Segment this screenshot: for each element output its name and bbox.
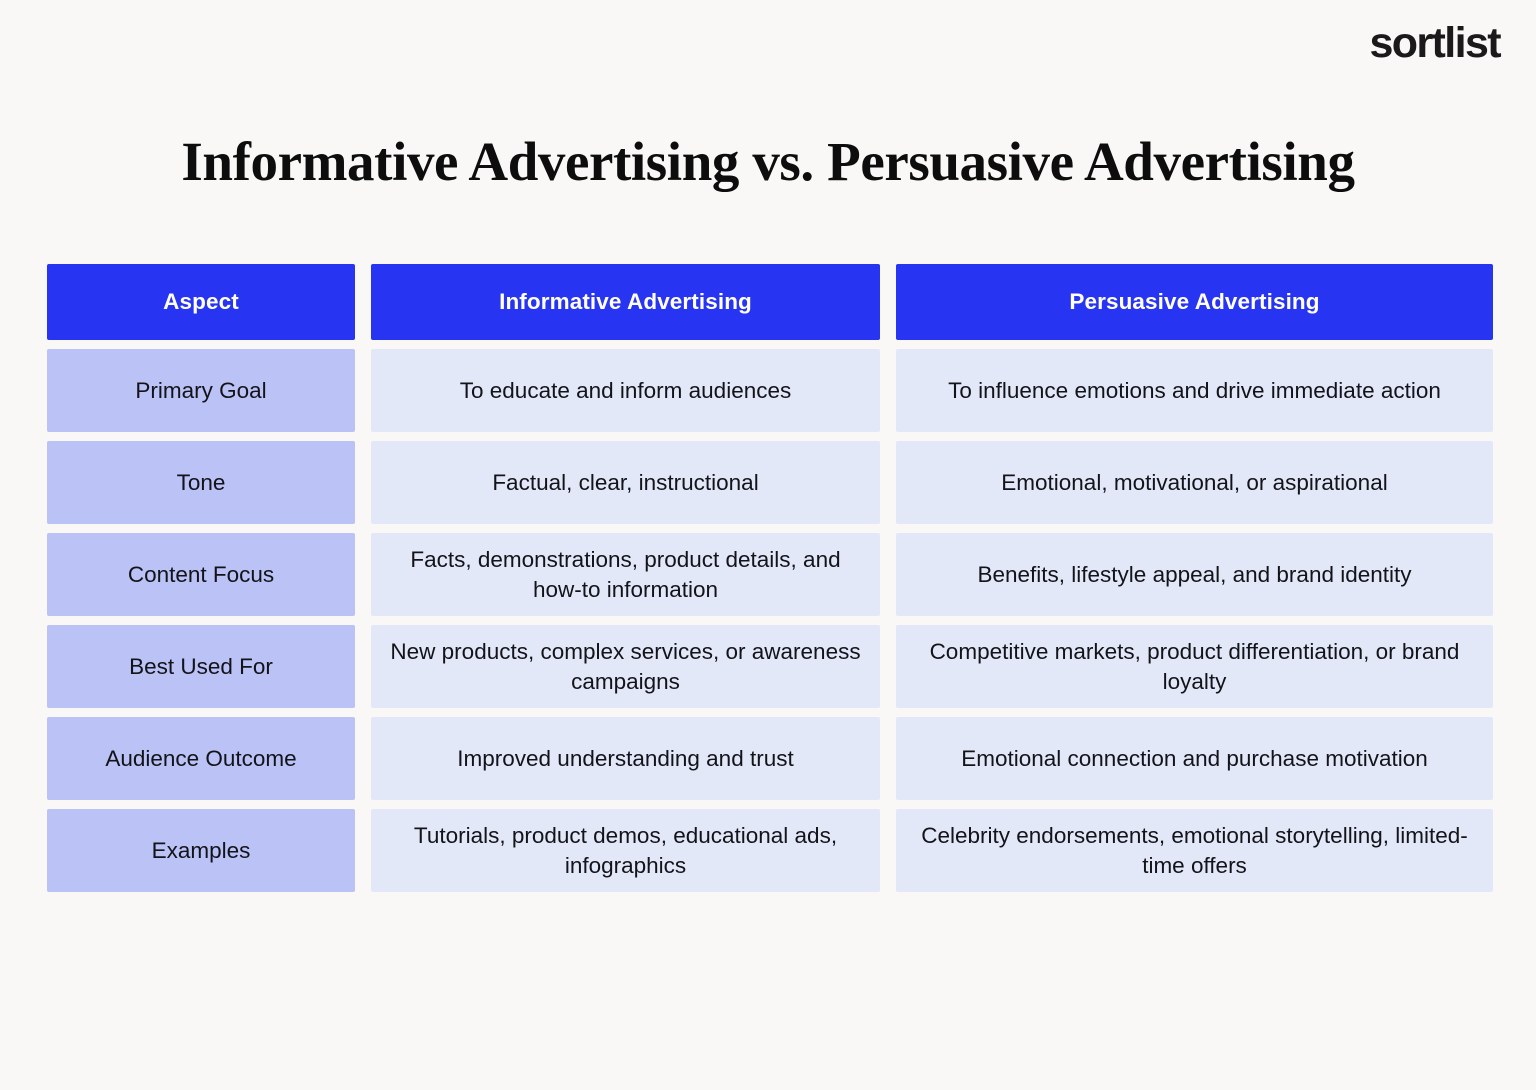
aspect-label: Best Used For [47,625,355,708]
aspect-label: Examples [47,809,355,892]
infographic-page: sortlist Informative Advertising vs. Per… [0,0,1536,1090]
comparison-table: Aspect Informative Advertising Persuasiv… [47,264,1490,892]
persuasive-value: Benefits, lifestyle appeal, and brand id… [896,533,1493,616]
column-header-persuasive: Persuasive Advertising [896,264,1493,340]
aspect-label: Tone [47,441,355,524]
persuasive-value: Emotional, motivational, or aspirational [896,441,1493,524]
aspect-label: Content Focus [47,533,355,616]
informative-value: Improved understanding and trust [371,717,880,800]
informative-value: Facts, demonstrations, product details, … [371,533,880,616]
table-row: Primary Goal To educate and inform audie… [47,349,1490,432]
informative-value: Factual, clear, instructional [371,441,880,524]
table-header-row: Aspect Informative Advertising Persuasiv… [47,264,1490,340]
sortlist-logo: sortlist [1369,22,1500,65]
persuasive-value: To influence emotions and drive immediat… [896,349,1493,432]
persuasive-value: Competitive markets, product differentia… [896,625,1493,708]
informative-value: New products, complex services, or aware… [371,625,880,708]
table-row: Content Focus Facts, demonstrations, pro… [47,533,1490,616]
table-row: Audience Outcome Improved understanding … [47,717,1490,800]
informative-value: To educate and inform audiences [371,349,880,432]
column-header-aspect: Aspect [47,264,355,340]
page-title: Informative Advertising vs. Persuasive A… [0,130,1536,193]
informative-value: Tutorials, product demos, educational ad… [371,809,880,892]
table-row: Tone Factual, clear, instructional Emoti… [47,441,1490,524]
persuasive-value: Emotional connection and purchase motiva… [896,717,1493,800]
table-row: Best Used For New products, complex serv… [47,625,1490,708]
aspect-label: Audience Outcome [47,717,355,800]
column-header-informative: Informative Advertising [371,264,880,340]
table-row: Examples Tutorials, product demos, educa… [47,809,1490,892]
aspect-label: Primary Goal [47,349,355,432]
persuasive-value: Celebrity endorsements, emotional storyt… [896,809,1493,892]
